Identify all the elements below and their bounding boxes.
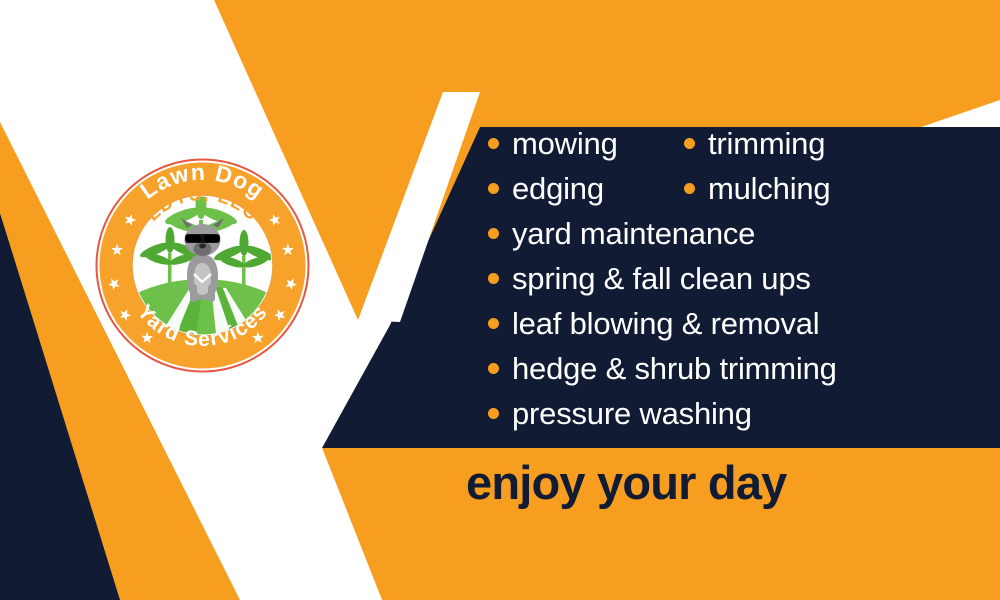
service-label: hedge & shrub trimming <box>512 353 837 384</box>
service-item-yard-maintenance: yard maintenance <box>488 218 755 249</box>
flyer-canvas: Lawn Dog LDYS, LLC Yard Services mowi <box>0 0 1000 600</box>
service-item-trimming: trimming <box>684 128 825 159</box>
services-row: edging mulching <box>488 173 958 218</box>
services-list: mowing trimming edging mulching yard mai… <box>488 128 958 443</box>
bullet-icon <box>684 183 695 194</box>
service-item-pressure-washing: pressure washing <box>488 398 752 429</box>
bullet-icon <box>488 273 499 284</box>
tagline-text: enjoy your day <box>466 459 787 506</box>
service-label: trimming <box>708 128 825 159</box>
service-item-hedge-shrub-trimming: hedge & shrub trimming <box>488 353 837 384</box>
services-row: hedge & shrub trimming <box>488 353 958 398</box>
service-label: edging <box>512 173 604 204</box>
service-label: spring & fall clean ups <box>512 263 811 294</box>
services-row: yard maintenance <box>488 218 958 263</box>
service-item-mowing: mowing <box>488 128 662 159</box>
service-label: mowing <box>512 128 618 159</box>
services-row: spring & fall clean ups <box>488 263 958 308</box>
service-item-leaf-blowing-removal: leaf blowing & removal <box>488 308 819 339</box>
bullet-icon <box>488 183 499 194</box>
bullet-icon <box>488 318 499 329</box>
service-label: leaf blowing & removal <box>512 308 819 339</box>
services-row: leaf blowing & removal <box>488 308 958 353</box>
bullet-icon <box>684 138 695 149</box>
bullet-icon <box>488 408 499 419</box>
service-item-edging: edging <box>488 173 662 204</box>
service-item-mulching: mulching <box>684 173 830 204</box>
service-item-spring-fall-clean-ups: spring & fall clean ups <box>488 263 811 294</box>
service-label: pressure washing <box>512 398 752 429</box>
service-label: mulching <box>708 173 830 204</box>
bullet-icon <box>488 138 499 149</box>
services-row: mowing trimming <box>488 128 958 173</box>
bullet-icon <box>488 228 499 239</box>
service-label: yard maintenance <box>512 218 755 249</box>
bullet-icon <box>488 363 499 374</box>
company-logo: Lawn Dog LDYS, LLC Yard Services <box>95 158 310 373</box>
services-row: pressure washing <box>488 398 958 443</box>
